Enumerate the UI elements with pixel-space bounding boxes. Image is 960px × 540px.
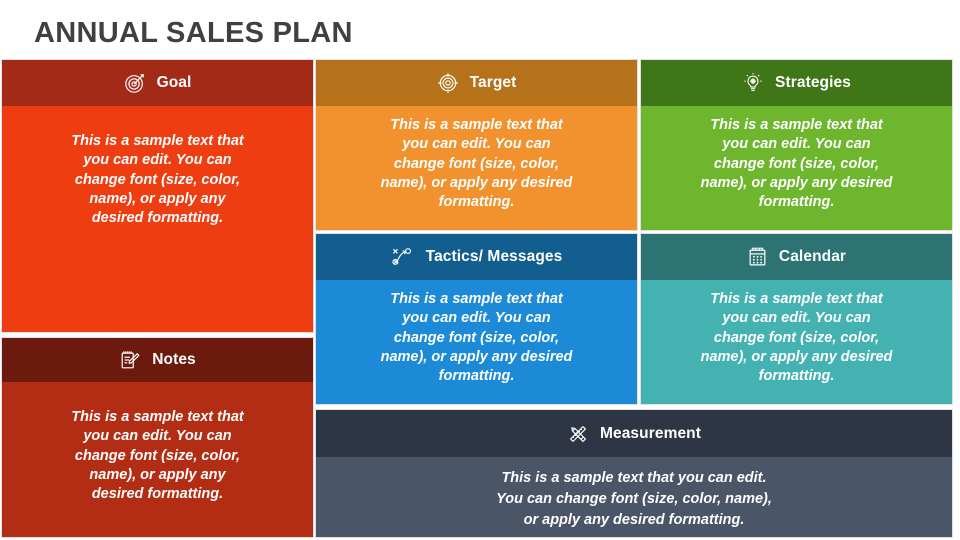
panel-goal[interactable]: Goal This is a sample text that you can … [2, 60, 313, 332]
panel-target-body: This is a sample text that you can edit.… [316, 106, 637, 230]
crosshair-target-icon [437, 72, 459, 94]
panel-goal-body: This is a sample text that you can edit.… [2, 106, 313, 332]
panel-calendar-title: Calendar [779, 248, 846, 266]
panel-strategies-text: This is a sample text that you can edit.… [689, 116, 904, 230]
panel-strategies[interactable]: Strategies This is a sample text that yo… [641, 60, 952, 230]
panel-target[interactable]: Target This is a sample text that you ca… [316, 60, 637, 230]
panel-calendar-text: This is a sample text that you can edit.… [689, 290, 904, 404]
panel-measurement[interactable]: Measurement This is a sample text that y… [316, 410, 952, 537]
panel-measurement-title: Measurement [600, 425, 701, 443]
panel-notes-header: Notes [2, 338, 313, 382]
panel-goal-header: Goal [2, 60, 313, 106]
panel-calendar[interactable]: Calendar This is a sample text that you … [641, 234, 952, 404]
panel-notes-text: This is a sample text that you can edit.… [53, 408, 263, 537]
lightbulb-gear-icon [742, 72, 764, 94]
panel-notes[interactable]: Notes This is a sample text that you can… [2, 338, 313, 537]
panel-measurement-text: This is a sample text that you can edit.… [482, 468, 787, 537]
panel-strategies-header: Strategies [641, 60, 952, 106]
panel-strategies-title: Strategies [775, 74, 851, 92]
panel-goal-title: Goal [157, 74, 192, 92]
panel-measurement-body: This is a sample text that you can edit.… [316, 457, 952, 537]
panel-tactics[interactable]: Tactics/ Messages This is a sample text … [316, 234, 637, 404]
panel-target-header: Target [316, 60, 637, 106]
panel-goal-text: This is a sample text that you can edit.… [53, 132, 263, 332]
panel-notes-body: This is a sample text that you can edit.… [2, 382, 313, 537]
panel-tactics-text: This is a sample text that you can edit.… [369, 290, 584, 404]
panel-measurement-header: Measurement [316, 410, 952, 457]
slide-canvas: ANNUAL SALES PLAN Goal This is a sample … [0, 0, 960, 540]
panel-tactics-title: Tactics/ Messages [426, 248, 563, 266]
ruler-pencil-icon [567, 423, 589, 445]
panel-tactics-body: This is a sample text that you can edit.… [316, 280, 637, 404]
panel-target-title: Target [470, 74, 517, 92]
target-dart-icon [124, 72, 146, 94]
panel-calendar-body: This is a sample text that you can edit.… [641, 280, 952, 404]
notepad-pencil-icon [119, 349, 141, 371]
playbook-strategy-icon [391, 246, 415, 268]
panel-calendar-header: Calendar [641, 234, 952, 280]
panel-notes-title: Notes [152, 351, 196, 369]
panel-target-text: This is a sample text that you can edit.… [369, 116, 584, 230]
panel-tactics-header: Tactics/ Messages [316, 234, 637, 280]
page-title: ANNUAL SALES PLAN [34, 16, 353, 50]
panel-strategies-body: This is a sample text that you can edit.… [641, 106, 952, 230]
calendar-icon [747, 246, 768, 268]
